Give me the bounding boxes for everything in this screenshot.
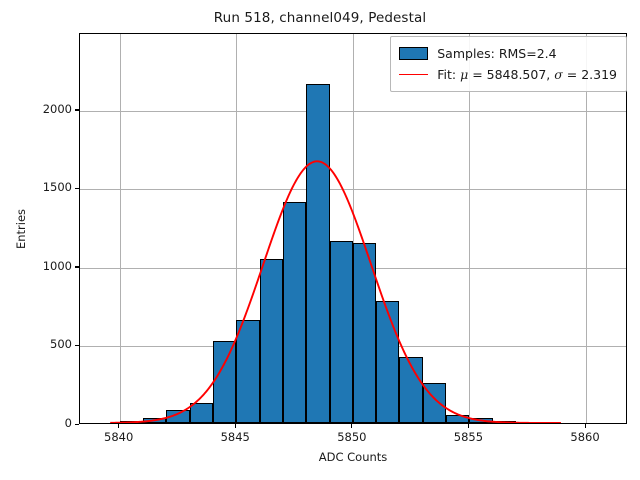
legend-fit-sigma-symbol: σ <box>554 67 563 82</box>
x-axis-label: ADC Counts <box>79 450 627 464</box>
x-tick-label: 5840 <box>84 430 154 444</box>
y-tick-mark <box>75 424 79 425</box>
x-tick-label: 5855 <box>433 430 503 444</box>
y-tick-mark <box>75 266 79 267</box>
fit-curve-path <box>110 161 561 423</box>
x-tick-label: 5845 <box>200 430 270 444</box>
legend-label-samples: Samples: RMS=2.4 <box>437 46 556 61</box>
legend-entry-samples: Samples: RMS=2.4 <box>399 43 617 64</box>
y-tick-label: 0 <box>2 416 72 430</box>
legend-fit-prefix: Fit: <box>437 67 460 82</box>
y-tick-label: 500 <box>2 337 72 351</box>
chart-title: Run 518, channel049, Pedestal <box>0 10 640 26</box>
chart-figure: Run 518, channel049, Pedestal 0500100015… <box>0 0 640 480</box>
legend-swatch-fit-icon <box>399 74 428 75</box>
fit-curve <box>80 34 626 423</box>
y-tick-mark <box>75 345 79 346</box>
y-tick-label: 2000 <box>2 102 72 116</box>
x-tick-mark <box>468 424 469 428</box>
x-tick-label: 5860 <box>550 430 620 444</box>
legend-entry-fit: Fit: μ = 5848.507, σ = 2.319 <box>399 64 617 85</box>
legend-fit-mu-symbol: μ <box>460 67 468 82</box>
legend-label-fit: Fit: μ = 5848.507, σ = 2.319 <box>437 67 617 82</box>
y-tick-mark <box>75 109 79 110</box>
y-tick-label: 1000 <box>2 259 72 273</box>
legend: Samples: RMS=2.4 Fit: μ = 5848.507, σ = … <box>390 36 627 92</box>
y-tick-label: 1500 <box>2 180 72 194</box>
legend-swatch-samples-icon <box>399 47 428 60</box>
y-axis-label: Entries <box>14 129 28 329</box>
x-tick-mark <box>235 424 236 428</box>
y-axis-ticks: 0500100015002000 <box>0 0 72 480</box>
legend-fit-sigma-value: = 2.319 <box>563 67 617 82</box>
y-tick-mark <box>75 188 79 189</box>
x-tick-mark <box>351 424 352 428</box>
x-tick-mark <box>585 424 586 428</box>
x-tick-label: 5850 <box>317 430 387 444</box>
x-tick-mark <box>118 424 119 428</box>
legend-fit-mu-value: = 5848.507, <box>468 67 554 82</box>
